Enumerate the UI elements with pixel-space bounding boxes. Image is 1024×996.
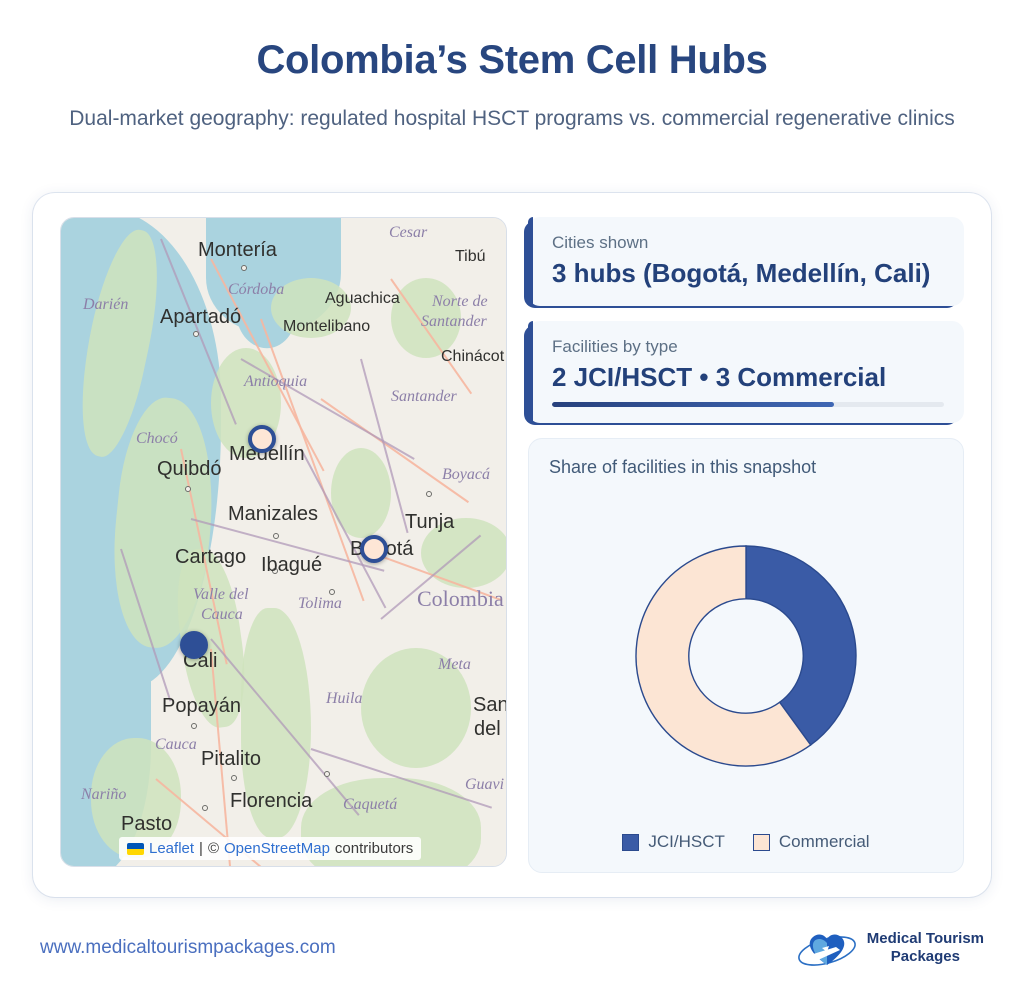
content-panel: Darién Córdoba Norte de Santander Antioq… — [33, 193, 991, 897]
map-city-dot — [426, 491, 432, 497]
heart-plane-logo-icon — [796, 925, 858, 971]
map-city-dot — [324, 771, 330, 777]
stat-value: 2 JCI/HSCT • 3 Commercial — [552, 361, 944, 394]
copyright-symbol: © — [208, 840, 219, 857]
footer-url[interactable]: www.medicaltourismpackages.com — [40, 937, 336, 959]
stat-card-facilities: Facilities by type 2 JCI/HSCT • 3 Commer… — [528, 321, 964, 424]
brand-logo: Medical Tourism Packages — [796, 925, 984, 971]
map-city-label: Montelibano — [283, 318, 370, 336]
map-city-label: Aguachica — [325, 290, 400, 308]
map-region-label: Tolima — [298, 595, 342, 613]
leaflet-link[interactable]: Leaflet — [149, 840, 194, 857]
map-region-label: Santander — [421, 313, 487, 331]
legend-label: Commercial — [779, 832, 870, 852]
legend-label: JCI/HSCT — [648, 832, 725, 852]
map-city-dot — [273, 533, 279, 539]
attribution-contributors: contributors — [335, 840, 413, 857]
map-region-label: Santander — [391, 388, 457, 406]
map-region-label: Cesar — [389, 224, 427, 242]
map-city-label: Apartadó — [160, 306, 241, 329]
attribution-separator: | — [199, 840, 203, 857]
map-region-label: Valle del — [193, 586, 249, 604]
stat-label: Cities shown — [552, 233, 944, 253]
map-region-label: Cauca — [201, 606, 243, 624]
map-city-dot — [193, 331, 199, 337]
legend-item-commercial[interactable]: Commercial — [753, 832, 870, 852]
map-canvas[interactable]: Darién Córdoba Norte de Santander Antioq… — [61, 218, 506, 866]
map-city-label: del — [474, 718, 501, 741]
map-city-label: Ibagué — [261, 554, 322, 577]
map-region-label: Caquetá — [343, 796, 397, 814]
map-city-dot — [329, 589, 335, 595]
map-city-label: Popayán — [162, 695, 241, 718]
map-city-label: Chinácot — [441, 348, 504, 366]
map-marker-medellin[interactable] — [248, 425, 276, 453]
map-region-label: Cauca — [155, 736, 197, 754]
page-title: Colombia’s Stem Cell Hubs — [40, 38, 984, 82]
map-city-label: Quibdó — [157, 458, 222, 481]
map-container[interactable]: Darién Córdoba Norte de Santander Antioq… — [60, 217, 507, 867]
map-region-label: Guavi — [465, 776, 504, 794]
chart-body — [549, 480, 943, 832]
map-city-label: San — [473, 694, 507, 717]
chart-title: Share of facilities in this snapshot — [549, 457, 943, 478]
map-region-label: Meta — [438, 656, 471, 674]
page-subtitle: Dual-market geography: regulated hospita… — [42, 104, 982, 134]
header: Colombia’s Stem Cell Hubs Dual-market ge… — [0, 0, 1024, 134]
map-city-label: Montería — [198, 239, 277, 262]
map-region-label: Nariño — [81, 786, 126, 804]
donut-chart[interactable] — [626, 536, 866, 776]
brand-text: Medical Tourism Packages — [867, 930, 984, 965]
map-city-label: Pasto — [121, 813, 172, 836]
stat-value: 3 hubs (Bogotá, Medellín, Cali) — [552, 257, 944, 290]
map-region-label: Norte de — [432, 293, 488, 311]
map-marker-bogota[interactable] — [360, 535, 388, 563]
brand-line-1: Medical Tourism — [867, 930, 984, 948]
stats-column: Cities shown 3 hubs (Bogotá, Medellín, C… — [528, 217, 964, 873]
map-region-label: Chocó — [136, 430, 178, 448]
map-city-label: Tunja — [405, 511, 454, 534]
map-attribution: Leaflet | © OpenStreetMap contributors — [119, 837, 421, 860]
map-region-label: Huila — [326, 690, 362, 708]
legend-swatch — [622, 834, 639, 851]
map-region-label: Darién — [83, 296, 128, 314]
map-marker-cali[interactable] — [180, 631, 208, 659]
map-city-label: Pitalito — [201, 748, 261, 771]
map-city-dot — [202, 805, 208, 811]
legend-swatch — [753, 834, 770, 851]
stat-label: Facilities by type — [552, 337, 944, 357]
map-city-dot — [231, 775, 237, 781]
progress-track — [552, 402, 944, 407]
map-city-label: Florencia — [230, 790, 312, 813]
ukraine-flag-icon — [127, 843, 144, 855]
map-region-label: Antioquia — [244, 373, 307, 391]
map-country-label: Colombia — [417, 586, 504, 612]
footer: www.medicaltourismpackages.com Medical T… — [0, 900, 1024, 996]
chart-legend: JCI/HSCT Commercial — [549, 832, 943, 856]
map-city-dot — [191, 723, 197, 729]
map-city-label: Cartago — [175, 546, 246, 569]
openstreetmap-link[interactable]: OpenStreetMap — [224, 840, 330, 857]
map-region-label: Boyacá — [442, 466, 490, 484]
progress-fill — [552, 402, 834, 407]
stat-card-cities: Cities shown 3 hubs (Bogotá, Medellín, C… — [528, 217, 964, 306]
map-city-label: Tibú — [455, 248, 486, 266]
brand-line-2: Packages — [867, 948, 984, 966]
map-city-dot — [185, 486, 191, 492]
map-city-dot — [241, 265, 247, 271]
legend-item-jci[interactable]: JCI/HSCT — [622, 832, 725, 852]
map-region-label: Córdoba — [228, 281, 284, 299]
donut-chart-card: Share of facilities in this snapshot JCI… — [528, 438, 964, 873]
infographic-page: Colombia’s Stem Cell Hubs Dual-market ge… — [0, 0, 1024, 996]
map-city-label: Manizales — [228, 503, 318, 526]
